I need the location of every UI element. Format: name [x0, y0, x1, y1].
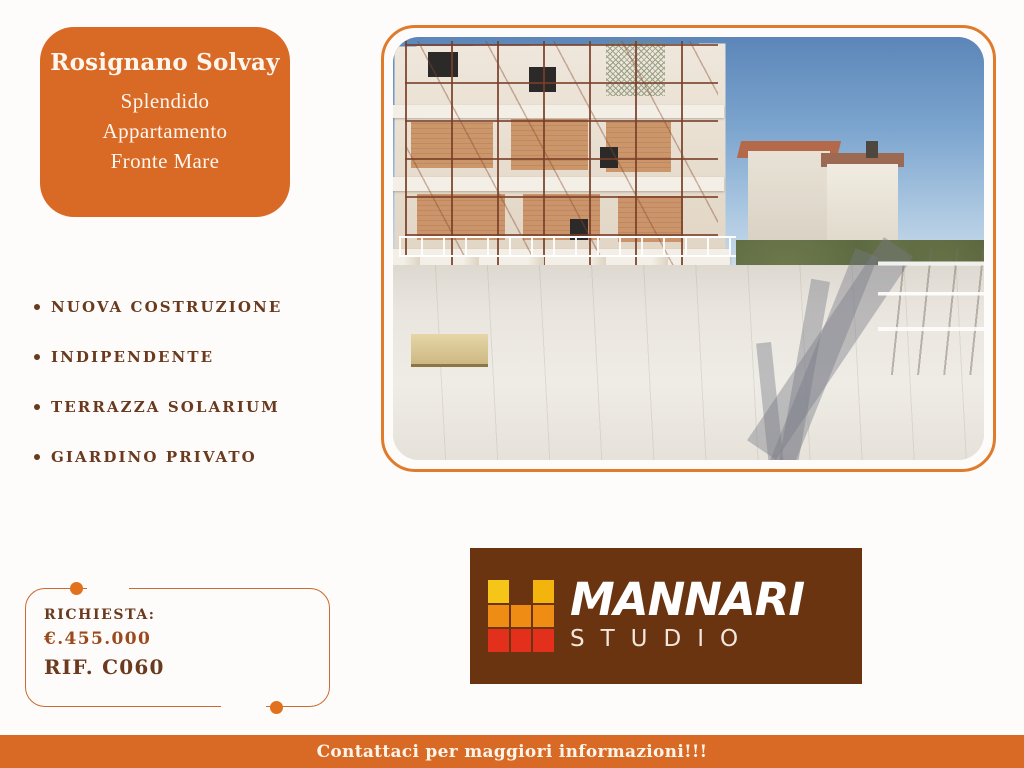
subtitle-line-2: Appartamento [40, 116, 290, 146]
list-item: NUOVA COSTRUZIONE [34, 282, 354, 332]
bullet-icon [34, 454, 40, 460]
list-item: TERRAZZA SOLARIUM [34, 382, 354, 432]
photo-neighbor-house [748, 151, 831, 253]
flyer-page: Rosignano Solvay Splendido Appartamento … [0, 0, 1024, 768]
price-label: RICHIESTA: [44, 607, 165, 623]
price-amount: €.455.000 [44, 629, 165, 649]
feature-label: GIARDINO PRIVATO [51, 448, 257, 466]
agency-logo: MANNARI STUDIO [470, 548, 862, 684]
title-badge: Rosignano Solvay Splendido Appartamento … [40, 27, 290, 217]
decorative-dot-icon [70, 582, 83, 595]
property-photo [393, 37, 984, 460]
feature-list: NUOVA COSTRUZIONE INDIPENDENTE TERRAZZA … [34, 282, 354, 482]
subtitle-line-1: Splendido [40, 86, 290, 116]
frame-gap-top [87, 584, 129, 592]
feature-label: TERRAZZA SOLARIUM [51, 398, 280, 416]
feature-label: INDIPENDENTE [51, 348, 214, 366]
agency-name: MANNARI [570, 577, 804, 622]
agency-subtitle: STUDIO [570, 625, 804, 655]
decorative-dot-icon [270, 701, 283, 714]
agency-logo-text: MANNARI STUDIO [570, 577, 804, 655]
photo-chimney [866, 141, 878, 158]
contact-banner-text: Contattaci per maggiori informazioni!!! [317, 742, 708, 762]
property-photo-frame [381, 25, 996, 472]
price-box: RICHIESTA: €.455.000 RIF. C060 [25, 588, 330, 707]
frame-gap-bottom [221, 703, 266, 711]
subtitle-line-3: Fronte Mare [40, 146, 290, 176]
photo-balcony-railing [399, 236, 736, 257]
photo-perimeter-railing [878, 249, 984, 376]
contact-banner: Contattaci per maggiori informazioni!!! [0, 735, 1024, 768]
mannari-m-mark-icon [488, 580, 554, 652]
price-content: RICHIESTA: €.455.000 RIF. C060 [44, 607, 165, 679]
list-item: GIARDINO PRIVATO [34, 432, 354, 482]
property-reference: RIF. C060 [44, 655, 165, 679]
photo-pallet [411, 334, 488, 367]
list-item: INDIPENDENTE [34, 332, 354, 382]
bullet-icon [34, 404, 40, 410]
page-title: Rosignano Solvay [40, 49, 290, 77]
bullet-icon [34, 304, 40, 310]
bullet-icon [34, 354, 40, 360]
feature-label: NUOVA COSTRUZIONE [51, 298, 282, 316]
